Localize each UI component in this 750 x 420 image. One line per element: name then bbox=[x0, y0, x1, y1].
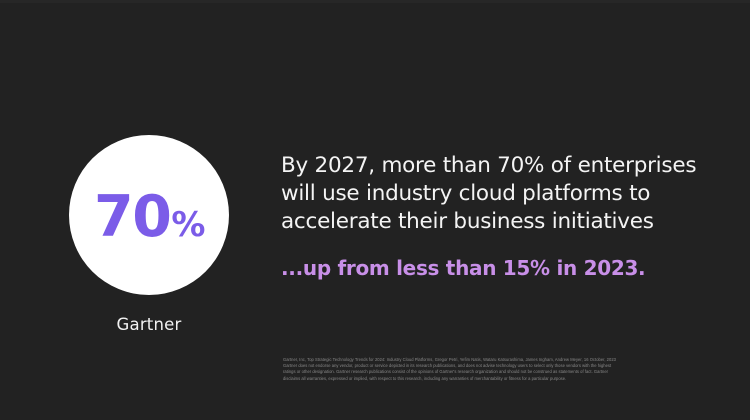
statistic-percent-symbol: % bbox=[171, 208, 204, 242]
subhead-text: ...up from less than 15% in 2023. bbox=[281, 256, 713, 280]
statistic-circle: 70 % bbox=[69, 135, 229, 295]
statistic-number: 70 bbox=[94, 189, 170, 246]
top-edge-divider bbox=[0, 0, 750, 3]
headline-text: By 2027, more than 70% of enterprises wi… bbox=[281, 152, 713, 236]
citation-line: disclaims all warranties, expressed or i… bbox=[283, 376, 695, 382]
copy-block: By 2027, more than 70% of enterprises wi… bbox=[281, 152, 713, 280]
slide-root: 70 % Gartner By 2027, more than 70% of e… bbox=[0, 0, 750, 420]
statistic-value: 70 % bbox=[94, 189, 204, 246]
statistic-block: 70 % Gartner bbox=[58, 135, 240, 334]
citation-block: Gartner, Inc, Top Strategic Technology T… bbox=[283, 357, 695, 382]
statistic-source-label: Gartner bbox=[117, 315, 182, 334]
